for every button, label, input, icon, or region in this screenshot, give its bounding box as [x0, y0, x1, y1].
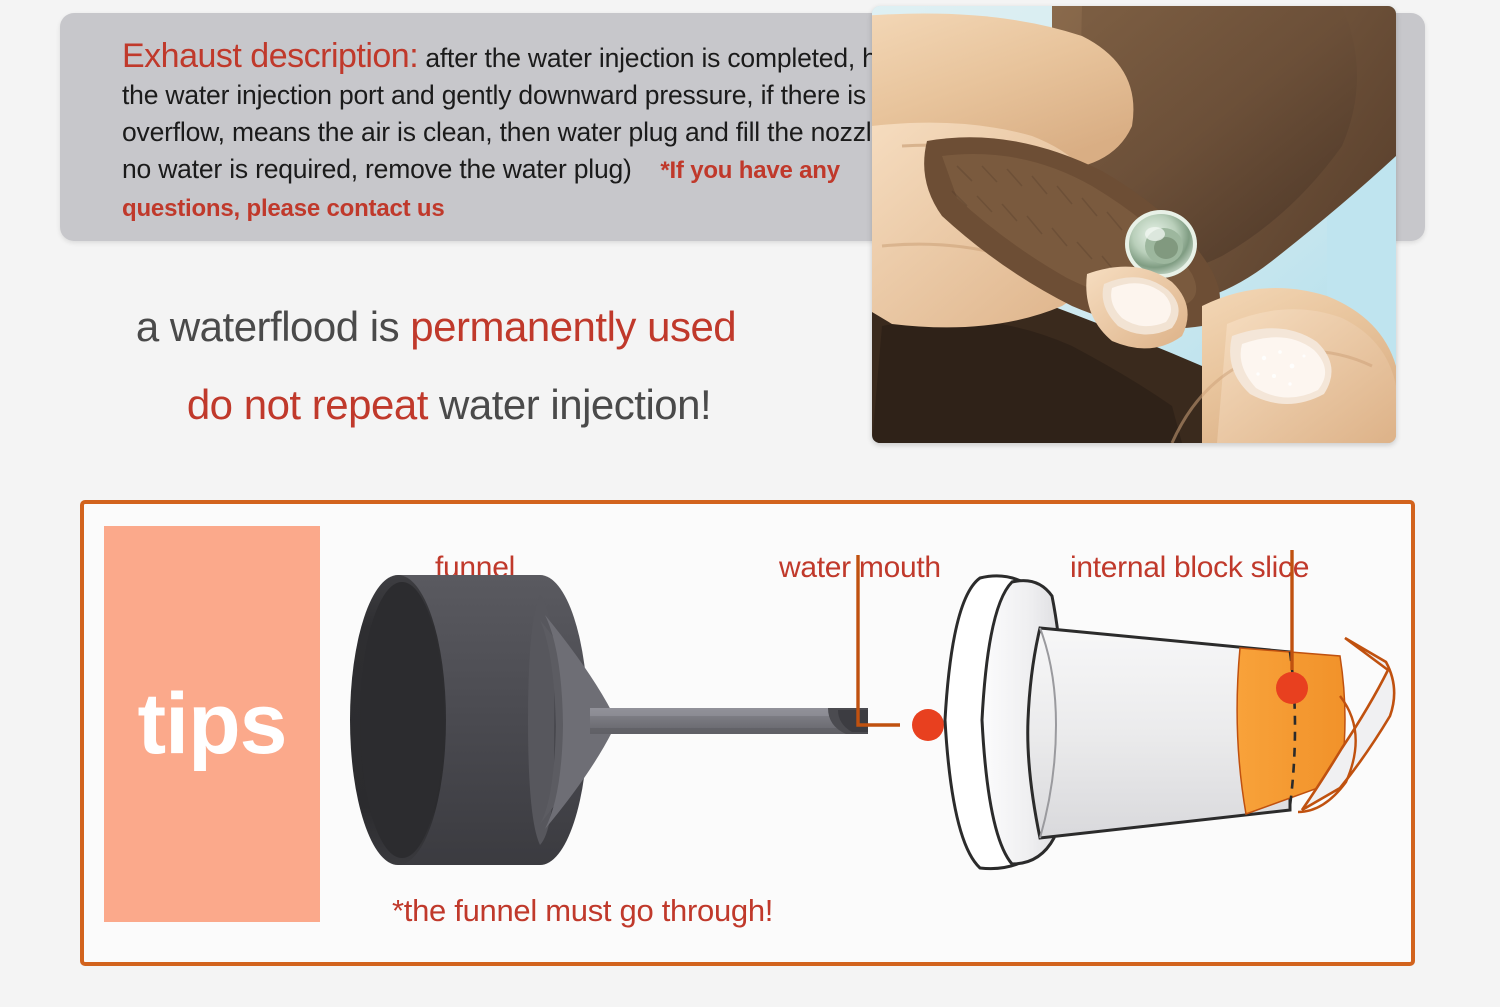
headline-line-2-plain: water injection! [428, 381, 711, 428]
funnel-nozzle-diagram [340, 520, 1400, 940]
tips-badge-label: tips [138, 681, 287, 767]
headline-line-1: a waterflood is permanently used [0, 288, 872, 366]
photo-illustration [872, 6, 1396, 443]
diagram-svg [340, 520, 1400, 940]
headline-block: a waterflood is permanently used do not … [0, 288, 872, 444]
exhaust-description-text: Exhaust description: after the water inj… [122, 38, 937, 227]
marker-internal-block-slice [1276, 672, 1308, 704]
poster-canvas: Exhaust description: after the water inj… [0, 0, 1500, 1007]
headline-line-1-red: permanently used [410, 303, 736, 350]
tips-badge: tips [104, 526, 320, 922]
product-demo-photo [872, 6, 1396, 443]
headline-line-2-red: do not repeat [187, 381, 428, 428]
headline-line-1-plain: a waterflood is [136, 303, 410, 350]
exhaust-description-title: Exhaust description: [122, 37, 418, 75]
marker-water-mouth [912, 709, 944, 741]
headline-line-2: do not repeat water injection! [0, 366, 872, 444]
